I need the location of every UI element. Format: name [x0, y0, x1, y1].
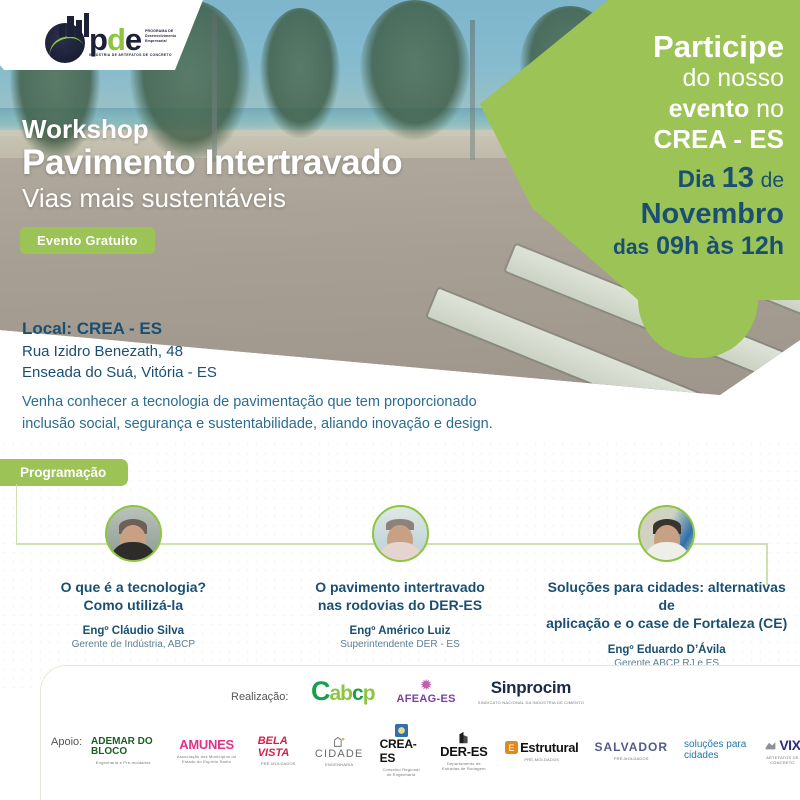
headline-block: Workshop Pavimento Intertravado Vias mai… [22, 116, 402, 215]
venue-address-line-2: Enseada do Suá, Vitória - ES [22, 362, 217, 383]
speaker-talk-title-line-2: nas rodovias do DER-ES [315, 596, 485, 614]
sponsor-logo-solucoes-para-cidades[interactable]: soluções para cidades [684, 740, 748, 761]
sponsor-name: VIX [779, 737, 800, 753]
venue-address-line-1: Rua Izidro Benezath, 48 [22, 341, 217, 362]
buildings-icon [59, 13, 89, 37]
callout-date-day-line: Dia 13 de [494, 160, 784, 198]
pde-letter-p: p [89, 22, 107, 57]
callout-line-evento-no: evento no [494, 94, 784, 125]
sponsor-subtitle: Departamento de Estradas de Rodagem [439, 761, 489, 771]
speaker-talk-title: O pavimento intertravado nas rodovias do… [309, 578, 491, 614]
callout-day-number: 13 [722, 162, 754, 194]
sponsor-name: CREA-ES [380, 737, 423, 765]
description-line-2: inclusão social, segurança e sustentabil… [22, 414, 562, 436]
sponsor-name: DER-ES [440, 744, 487, 759]
apoio-label: Apoio: [51, 736, 82, 748]
speaker-avatar-eduardo [638, 505, 695, 562]
speaker-role: Superintendente DER - ES [340, 639, 460, 650]
building-icon [333, 735, 346, 748]
sponsor-name: soluções para cidades [684, 740, 748, 761]
speaker-name: Engº Américo Luiz [350, 625, 451, 637]
realizacao-label: Realização: [231, 691, 288, 703]
event-poster: Participe do nosso evento no CREA - ES D… [0, 0, 800, 800]
sponsor-subtitle: Associação dos Municípios do Estado do E… [171, 754, 241, 764]
der-tower-icon [457, 731, 470, 744]
sponsor-name: ADEMAR DO BLOCO [91, 737, 155, 758]
speaker-name: Engº Eduardo D’Ávila [608, 644, 726, 656]
speaker-card[interactable]: O que é a tecnologia? Como utilizá-la En… [0, 505, 267, 669]
estrutural-e-icon: E [505, 741, 518, 754]
vix-rock-icon [764, 738, 777, 751]
svg-text:E: E [509, 742, 515, 752]
pde-logo: pde PROGRAMA DE Desenvolvimento Empresar… [45, 13, 185, 65]
callout-month: Novembro [494, 198, 784, 231]
headline-eyebrow: Workshop [22, 116, 402, 143]
sponsor-subtitle: PRÉ-MOLDADOS [261, 761, 296, 766]
callout-de-label: de [761, 169, 784, 192]
sponsor-logo-afeag[interactable]: ✹ AFEAG-ES [397, 678, 456, 705]
realizacao-logo-row: CABCPabcp ✹ AFEAG-ES Sinprocim SINDICATO… [311, 676, 584, 707]
callout-line-participe: Participe [494, 30, 784, 63]
free-event-badge: Evento Gratuito [20, 227, 155, 254]
callout-time-range: 09h às 12h [656, 232, 784, 260]
sponsor-subtitle: PRÉ-MOLDADOS [524, 757, 559, 762]
speaker-role: Gerente de Indústria, ABCP [72, 639, 195, 650]
description-line-1: Venha conhecer a tecnologia de pavimenta… [22, 392, 562, 414]
sponsor-logo-amunes[interactable]: AMUNES Associação dos Municípios do Esta… [171, 737, 241, 764]
speaker-talk-title: O que é a tecnologia? Como utilizá-la [55, 578, 212, 614]
sponsor-footer: Realização: Apoio: CABCPabcp ✹ AFEAG-ES … [40, 665, 800, 800]
venue-title: Local: CREA - ES [22, 318, 217, 341]
description-block: Venha conhecer a tecnologia de pavimenta… [22, 392, 562, 436]
speaker-talk-title: Soluções para cidades: alternativas de a… [533, 578, 800, 633]
sponsor-subtitle: ENGENHARIA [325, 762, 353, 767]
photo-pole [470, 20, 475, 160]
speaker-talk-title-line-1: O que é a tecnologia? [61, 578, 206, 596]
sponsor-logo-sinprocim[interactable]: Sinprocim SINDICATO NACIONAL DA INDÚSTRI… [478, 678, 584, 705]
sponsor-subtitle: SINDICATO NACIONAL DA INDÚSTRIA DE CIMEN… [478, 700, 584, 705]
speaker-talk-title-line-2: Como utilizá-la [61, 596, 206, 614]
pde-letter-d: d [107, 22, 125, 57]
pde-logo-tagline: INDÚSTRIA DE ARTEFATOS DE CONCRETO [89, 53, 172, 57]
callout-das-label: das [613, 236, 649, 259]
pde-letter-e: e [125, 22, 141, 57]
speaker-avatar-americo [372, 505, 429, 562]
callout-dia-label: Dia [678, 166, 715, 193]
sponsor-logo-bela-vista[interactable]: BELA VISTA PRÉ-MOLDADOS [258, 735, 299, 766]
sponsor-logo-salvador[interactable]: SALVADOR PRÉ-MOLDADOS [594, 740, 668, 761]
pde-sub-line3: Empresarial [145, 39, 191, 44]
pde-logo-subtitle: PROGRAMA DE Desenvolvimento Empresarial [145, 29, 191, 45]
speaker-name: Engº Cláudio Silva [83, 625, 184, 637]
sponsor-name: BELA VISTA [258, 735, 299, 759]
sponsor-logo-ademar[interactable]: ADEMAR DO BLOCO Engenharia e Pré-moldado… [91, 737, 155, 765]
sponsor-logo-cidade[interactable]: CIDADE ENGENHARIA [315, 735, 364, 767]
program-tab: Programação [0, 459, 128, 486]
sponsor-logo-crea-es[interactable]: CREA-ES Conselho Regional de Engenharia [380, 724, 423, 777]
sponsor-name: Sinprocim [491, 678, 571, 698]
sponsor-logo-estrutural[interactable]: E Estrutural PRÉ-MOLDADOS [505, 740, 578, 762]
sponsor-logo-abcp[interactable]: CABCPabcp [311, 676, 375, 707]
sponsor-name: AFEAG-ES [397, 693, 456, 705]
callout-date-block: Dia 13 de Novembro das 09h às 12h [494, 160, 784, 262]
sponsor-subtitle: Conselho Regional de Engenharia [380, 767, 423, 777]
crea-seal-icon [395, 724, 408, 737]
afeag-icon: ✹ [420, 678, 433, 693]
speaker-card[interactable]: Soluções para cidades: alternativas de a… [533, 505, 800, 669]
apoio-logo-row: ADEMAR DO BLOCO Engenharia e Pré-moldado… [91, 724, 800, 777]
callout-evento-bold: evento [669, 95, 750, 123]
speaker-card[interactable]: O pavimento intertravado nas rodovias do… [267, 505, 534, 669]
callout-line-do-nosso: do nosso [494, 63, 784, 94]
venue-block: Local: CREA - ES Rua Izidro Benezath, 48… [22, 318, 217, 384]
speaker-list: O que é a tecnologia? Como utilizá-la En… [0, 505, 800, 669]
sponsor-name: AMUNES [179, 737, 234, 752]
speaker-talk-title-line-1: O pavimento intertravado [315, 578, 485, 596]
sponsor-subtitle: ARTEFATOS DE CONCRETO [764, 755, 800, 765]
sponsor-subtitle: PRÉ-MOLDADOS [614, 756, 649, 761]
speaker-avatar-claudio [105, 505, 162, 562]
callout-text-block: Participe do nosso evento no CREA - ES [494, 30, 784, 155]
sponsor-name: CIDADE [315, 748, 364, 760]
callout-line-crea-es: CREA - ES [494, 124, 784, 155]
sponsor-name: Estrutural [520, 740, 578, 755]
speaker-talk-title-line-1: Soluções para cidades: alternativas de [539, 578, 794, 614]
callout-time-line: das 09h às 12h [494, 231, 784, 262]
pde-wordmark: pde [89, 24, 141, 55]
sponsor-logo-der-es[interactable]: DER-ES Departamento de Estradas de Rodag… [439, 731, 489, 771]
callout-no: no [749, 95, 784, 123]
sponsor-subtitle: Engenharia e Pré-moldados [96, 760, 151, 765]
headline-title: Pavimento Intertravado [22, 143, 402, 182]
headline-subtitle: Vias mais sustentáveis [22, 182, 402, 215]
abcp-wordmark: CABCPabcp [311, 676, 375, 707]
speaker-talk-title-line-2: aplicação e o case de Fortaleza (CE) [539, 614, 794, 632]
sponsor-name: SALVADOR [594, 740, 668, 754]
sponsor-logo-vix[interactable]: VIX ARTEFATOS DE CONCRETO [764, 737, 800, 765]
